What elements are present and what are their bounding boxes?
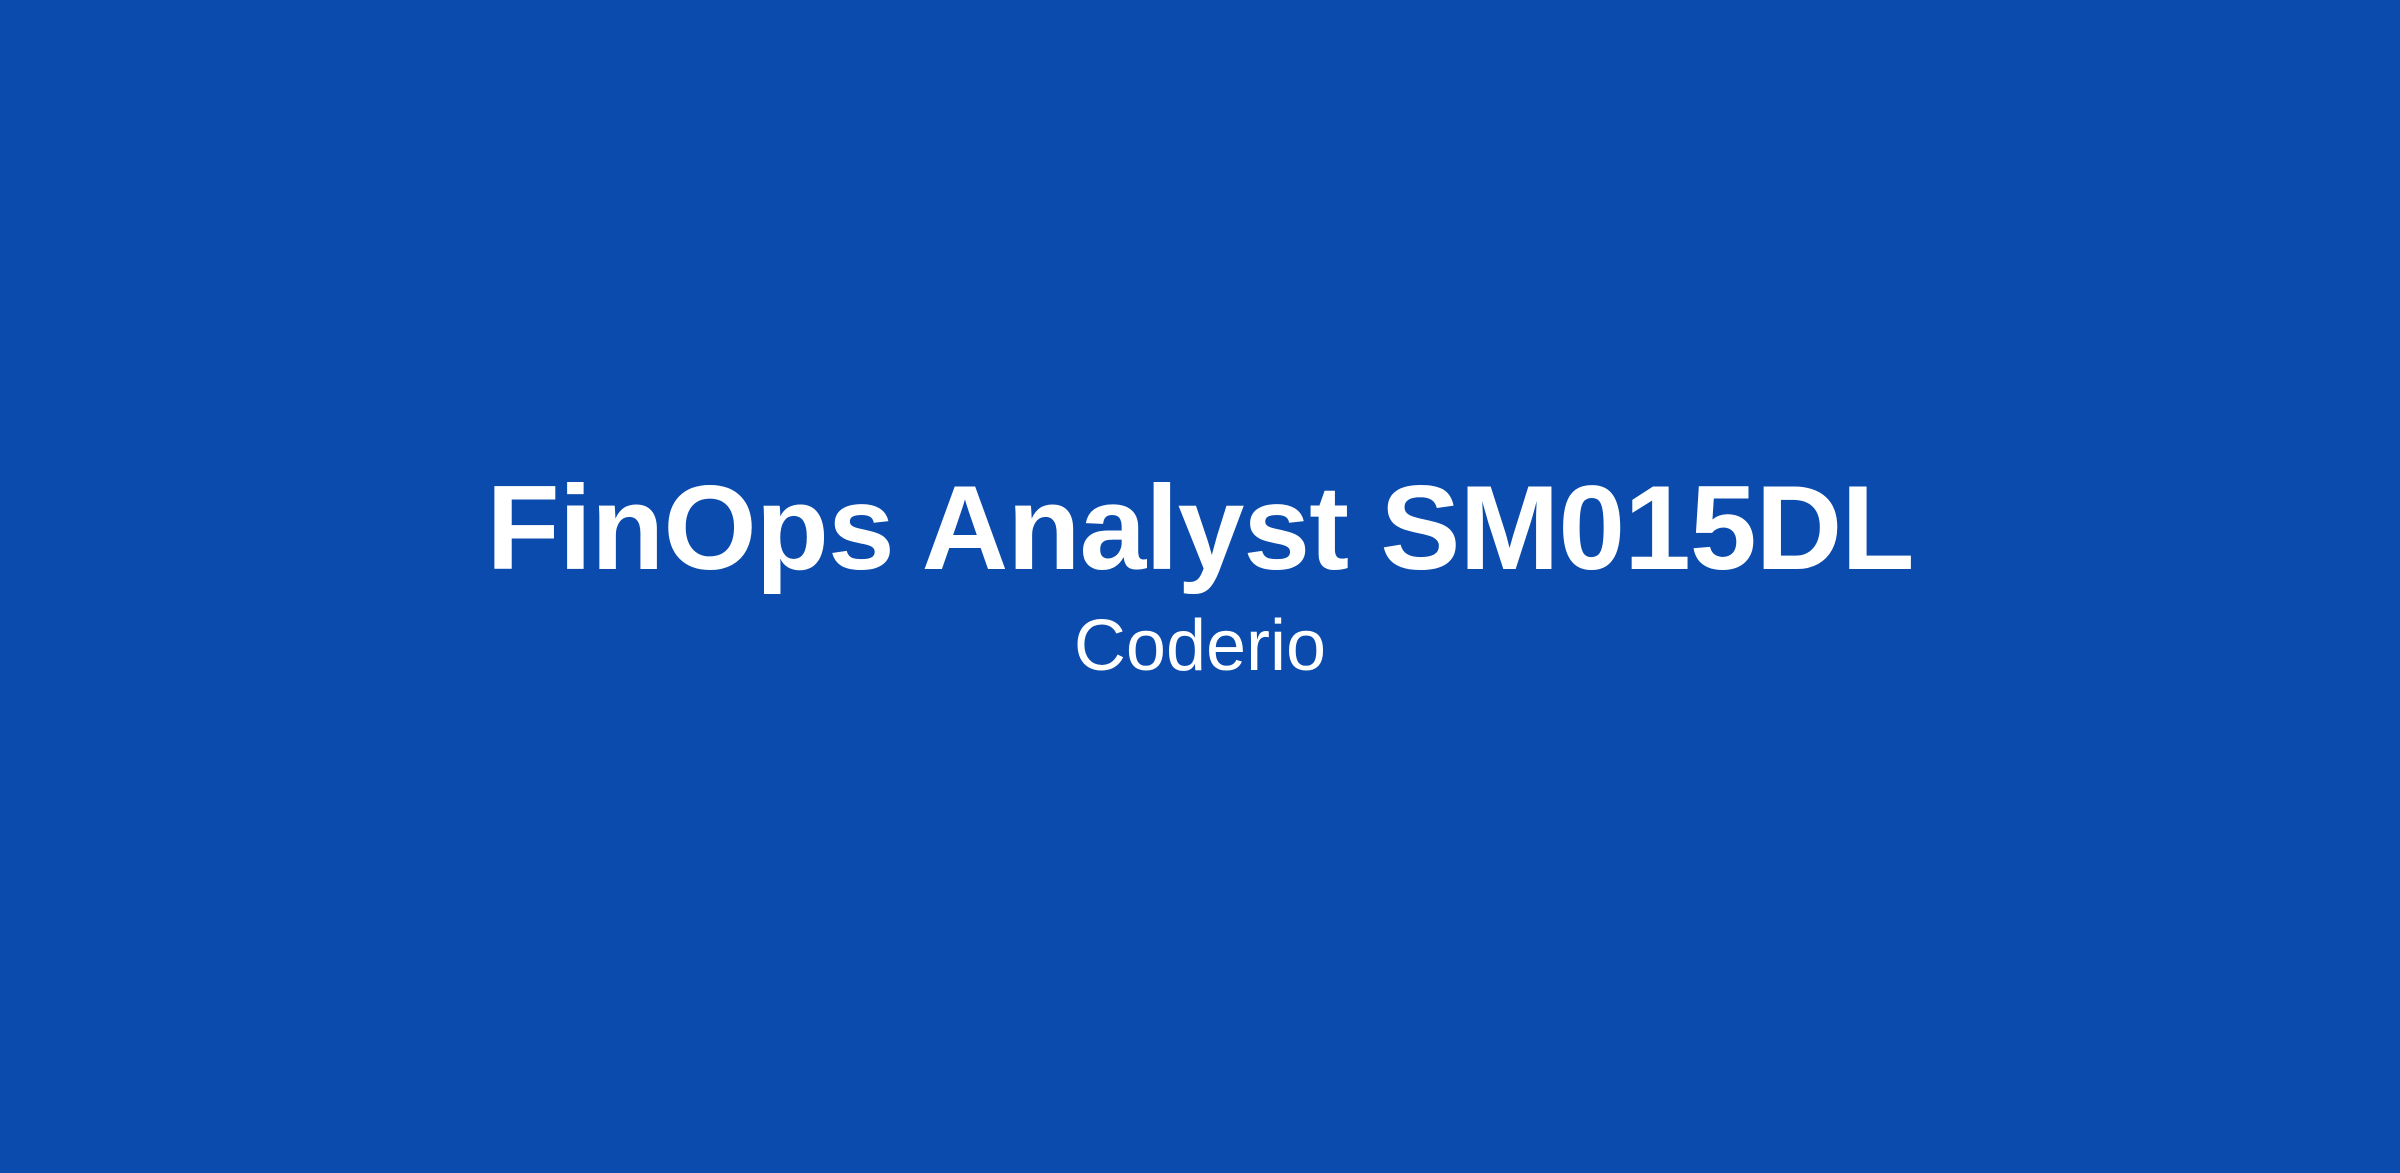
title-slide: FinOps Analyst SM015DL Coderio [0,0,2400,1173]
page-subtitle: Coderio [1074,610,1326,682]
title-block: FinOps Analyst SM015DL Coderio [0,468,2400,682]
page-title: FinOps Analyst SM015DL [486,468,1913,588]
